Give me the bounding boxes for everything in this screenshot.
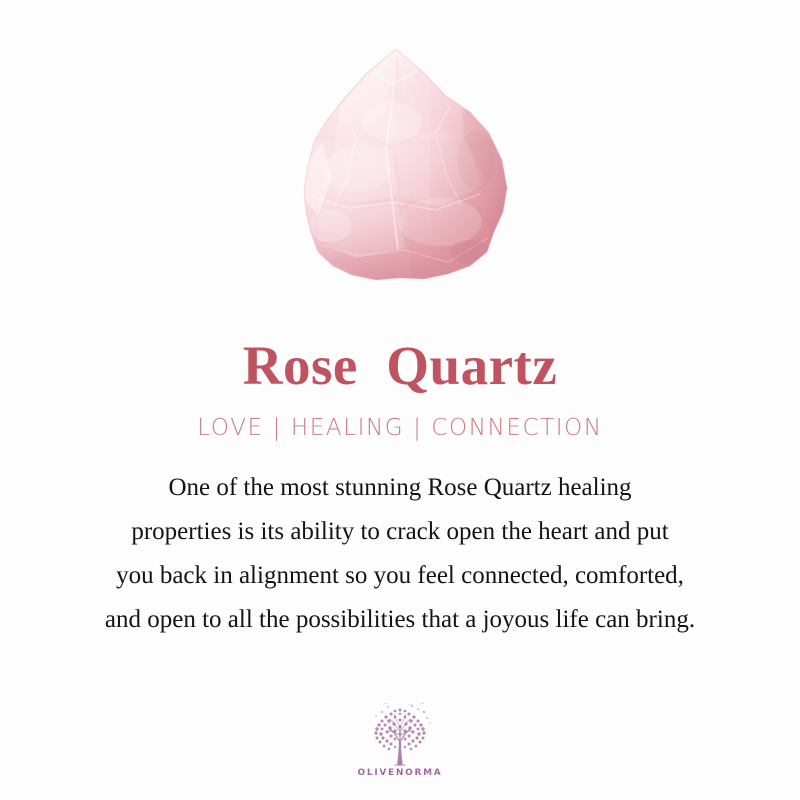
keyword-tagline: LOVE | HEALING | CONNECTION <box>197 415 602 441</box>
description-line: and open to all the possibilities that a… <box>20 598 780 642</box>
description-line: you back in alignment so you feel connec… <box>20 554 780 598</box>
description-text: One of the most stunning Rose Quartz hea… <box>20 466 780 642</box>
tree-icon <box>364 701 436 767</box>
brand-logo: OLIVENORMA <box>0 701 800 778</box>
page-title: Rose Quartz <box>243 338 558 393</box>
product-info-card: Rose Quartz LOVE | HEALING | CONNECTION … <box>0 0 800 800</box>
description-line: properties is its ability to crack open … <box>20 510 780 554</box>
rose-quartz-crystal-icon <box>0 0 800 300</box>
description-line: One of the most stunning Rose Quartz hea… <box>20 466 780 510</box>
crystal-image-area <box>0 0 800 300</box>
brand-name: OLIVENORMA <box>358 768 443 778</box>
